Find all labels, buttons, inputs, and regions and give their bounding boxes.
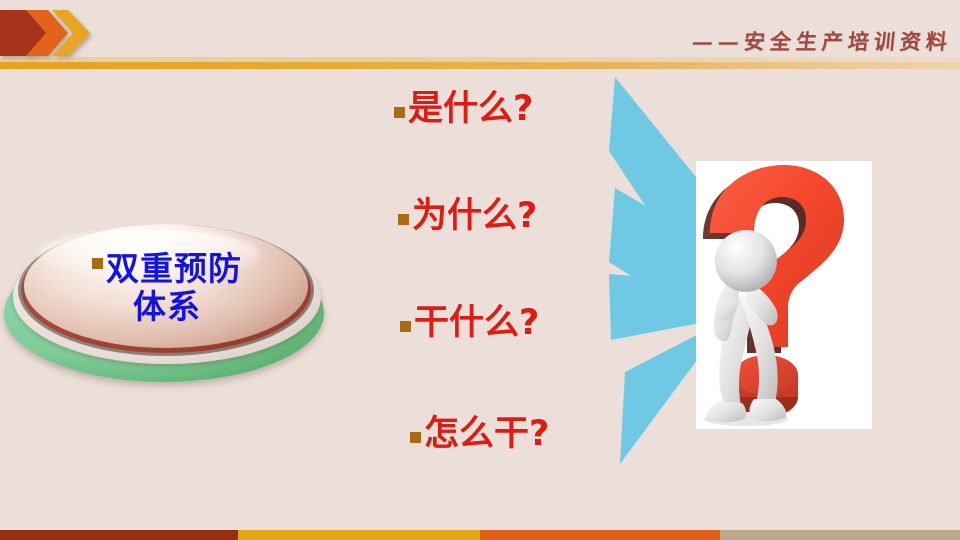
question-list-item[interactable]: 干什么? — [400, 306, 607, 341]
bullet-square-icon — [92, 258, 103, 269]
header-rule — [0, 62, 960, 69]
question-mark-illustration — [696, 161, 872, 429]
footer-segment-tan — [720, 530, 960, 540]
slide-canvas: ——安全生产培训资料 双重预防 体系 是什么? 为什么? 干什么? — [0, 0, 960, 540]
header-title: ——安全生产培训资料 — [690, 26, 953, 56]
question-label: 怎么干? — [424, 417, 549, 452]
question-list-item[interactable]: 怎么干? — [410, 417, 607, 452]
topic-badge[interactable]: 双重预防 体系 — [4, 222, 330, 396]
badge-label-line-1: 双重预防 — [106, 249, 242, 288]
bullet-square-icon — [394, 107, 405, 118]
footer-segment-gold — [238, 530, 480, 540]
bullet-square-icon — [410, 432, 421, 443]
bullet-square-icon — [398, 214, 409, 225]
question-label: 是什么? — [408, 92, 533, 127]
footer-color-bar — [0, 530, 960, 540]
question-list: 是什么? 为什么? 干什么? 怎么干? — [392, 92, 607, 452]
badge-label-line-2: 体系 — [133, 287, 201, 326]
chevron-3-icon — [52, 10, 90, 56]
badge-label: 双重预防 体系 — [4, 250, 330, 327]
footer-segment-orange — [480, 530, 720, 540]
question-label: 干什么? — [414, 306, 539, 341]
question-list-item[interactable]: 为什么? — [398, 199, 607, 234]
footer-segment-dark-red — [0, 530, 238, 540]
bullet-square-icon — [400, 321, 411, 332]
header-chevron-group — [0, 10, 90, 60]
question-list-item[interactable]: 是什么? — [394, 92, 607, 127]
question-label: 为什么? — [412, 199, 537, 234]
